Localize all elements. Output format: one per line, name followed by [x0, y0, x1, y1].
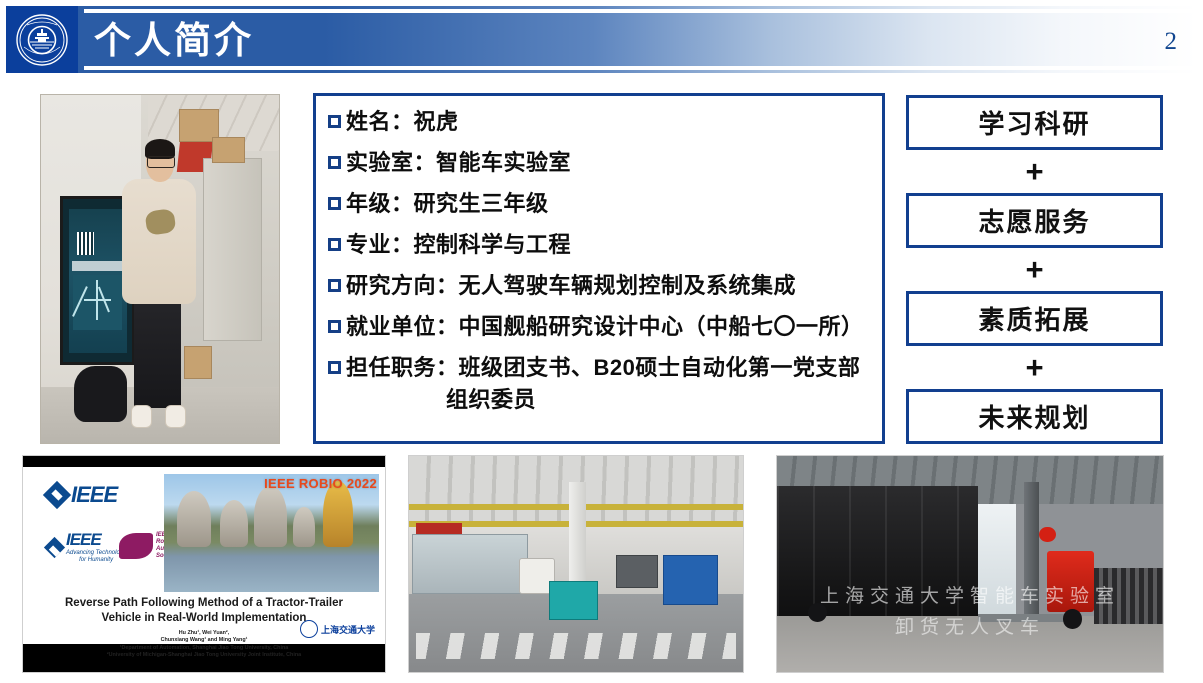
info-item-label: 就业单位： [346, 314, 459, 339]
ras-emblem-icon [119, 533, 153, 559]
ieee-diamond-icon [43, 481, 71, 509]
list-item: 实验室：智能车实验室 [328, 147, 870, 179]
info-item-continuation: 组织委员 [346, 384, 860, 416]
sjtu-seal-icon [300, 620, 318, 638]
ieee-logo-primary: IEEE [47, 482, 117, 508]
poster-authors-line-2: Chunxiang Wang¹ and Ming Yang¹ [23, 637, 385, 644]
list-item: 担任职务：班级团支书、B20硕士自动化第一党支部 组织委员 [328, 352, 870, 416]
info-item-value: 研究生三年级 [414, 191, 549, 216]
factory-cart-right [663, 555, 718, 605]
factory-floor-marking [416, 633, 737, 659]
photo-backpack [74, 366, 126, 422]
info-item-text: 研究方向：无人驾驶车辆规划控制及系统集成 [346, 270, 796, 302]
outline-stack: 学习科研 + 志愿服务 + 素质拓展 + 未来规划 [906, 95, 1163, 443]
factory-equipment [616, 555, 658, 587]
header-logo-block [6, 6, 78, 73]
person-shoe-left [131, 405, 152, 428]
profile-info-box: 姓名：祝虎 实验室：智能车实验室 年级：研究生三年级 专业：控制科学与工程 研究 [313, 93, 885, 444]
square-bullet-icon [328, 115, 341, 128]
qr-code-icon [77, 232, 94, 255]
poster-university-mark: 上海交通大学 [300, 620, 375, 638]
info-item-value: 无人驾驶车辆规划控制及系统集成 [459, 273, 797, 298]
forklift-warning-lamp-icon [1039, 527, 1055, 542]
poster-university-name: 上海交通大学 [321, 623, 375, 636]
photo-carton-c [184, 346, 212, 379]
factory-workshop-image [408, 455, 744, 673]
info-item-text: 年级：研究生三年级 [346, 188, 549, 220]
photo-cabinet [203, 158, 262, 341]
info-item-text: 实验室：智能车实验室 [346, 147, 571, 179]
info-item-label: 实验室： [346, 150, 436, 175]
outline-box-volunteer[interactable]: 志愿服务 [906, 193, 1163, 248]
square-bullet-icon [328, 361, 341, 374]
list-item: 年级：研究生三年级 [328, 188, 870, 220]
factory-glass-partition [412, 534, 528, 594]
outline-box-quality[interactable]: 素质拓展 [906, 291, 1163, 346]
info-item-text: 就业单位：中国舰船研究设计中心（中船七〇一所） [346, 311, 864, 343]
stupa-c [254, 486, 286, 547]
signage-map [73, 275, 122, 330]
poster-affiliation-line-1: ¹Department of Automation, Shanghai Jiao… [23, 645, 385, 652]
square-bullet-icon [328, 156, 341, 169]
square-bullet-icon [328, 279, 341, 292]
info-item-value: 班级团支书、B20硕士自动化第一党支部 [459, 355, 861, 380]
stupa-d [293, 507, 315, 547]
stupa-a [177, 491, 211, 548]
plus-separator-2: + [906, 248, 1163, 291]
info-item-value: 控制科学与工程 [414, 232, 572, 257]
poster-affiliation-line-2: ²University of Michigan-Shanghai Jiao To… [23, 652, 385, 659]
list-item: 姓名：祝虎 [328, 106, 870, 138]
person-glasses [147, 156, 175, 168]
stupa-gold [323, 481, 353, 547]
outline-box-study[interactable]: 学习科研 [906, 95, 1163, 150]
poster-title-line-1: Reverse Path Following Method of a Tract… [23, 596, 385, 611]
page-number: 2 [1165, 28, 1178, 56]
stupa-b [220, 500, 248, 547]
page-title: 个人简介 [94, 16, 254, 66]
info-item-value: 祝虎 [414, 109, 459, 134]
factory-cart-center [549, 581, 598, 620]
photo-carton-b [212, 137, 245, 163]
portrait-photo [40, 94, 280, 444]
info-item-text: 担任职务：班级团支书、B20硕士自动化第一党支部 组织委员 [346, 352, 860, 416]
info-item-value: 中国舰船研究设计中心（中船七〇一所） [459, 314, 864, 339]
ieee-tagline-line2: for Humanity [66, 557, 126, 564]
header-rule-bottom [84, 66, 1197, 70]
ieee-tagline-line1: Advancing Technology [66, 550, 126, 557]
sjtu-seal-logo [15, 13, 69, 67]
info-item-label: 姓名： [346, 109, 414, 134]
info-item-label: 专业： [346, 232, 414, 257]
signage-caption [72, 261, 123, 271]
slide-canvas: 个人简介 2 [0, 0, 1203, 683]
ieee-wordmark: IEEE [71, 482, 117, 508]
info-item-label: 年级： [346, 191, 414, 216]
info-item-text: 姓名：祝虎 [346, 106, 459, 138]
square-bullet-icon [328, 197, 341, 210]
ieee-logo-secondary: IEEE Advancing Technology for Humanity [47, 530, 126, 564]
list-item: 就业单位：中国舰船研究设计中心（中船七〇一所） [328, 311, 870, 343]
signage-screen [69, 209, 127, 353]
plus-separator-1: + [906, 150, 1163, 193]
ieee-wordmark: IEEE [66, 530, 126, 550]
person-hoodie [122, 179, 196, 304]
autonomous-forklift-image: 上海交通大学智能车实验室 卸货无人叉车 [776, 455, 1164, 673]
info-item-text: 专业：控制科学与工程 [346, 229, 571, 261]
header-rule-top [84, 9, 1197, 13]
poster-top-bar [23, 456, 385, 467]
info-item-label: 担任职务： [346, 355, 459, 380]
info-item-label: 研究方向： [346, 273, 459, 298]
outline-box-future[interactable]: 未来规划 [906, 389, 1163, 444]
ieee-diamond-icon [44, 536, 65, 557]
square-bullet-icon [328, 320, 341, 333]
conference-poster-image: IEEE IEEE Advancing Technology for Human… [22, 455, 386, 673]
poster-skyline-photo [164, 474, 379, 592]
person-shoe-right [165, 405, 186, 428]
forklift-watermark-line-1: 上海交通大学智能车实验室 [777, 581, 1163, 608]
list-item: 研究方向：无人驾驶车辆规划控制及系统集成 [328, 270, 870, 302]
square-bullet-icon [328, 238, 341, 251]
poster-conference-ribbon: IEEE ROBIO 2022 [264, 476, 377, 491]
forklift-watermark-line-2: 卸货无人叉车 [777, 612, 1163, 639]
info-item-value: 智能车实验室 [436, 150, 571, 175]
person-legs [134, 293, 182, 408]
list-item: 专业：控制科学与工程 [328, 229, 870, 261]
slide-header: 个人简介 2 [6, 6, 1197, 73]
plus-separator-3: + [906, 346, 1163, 389]
